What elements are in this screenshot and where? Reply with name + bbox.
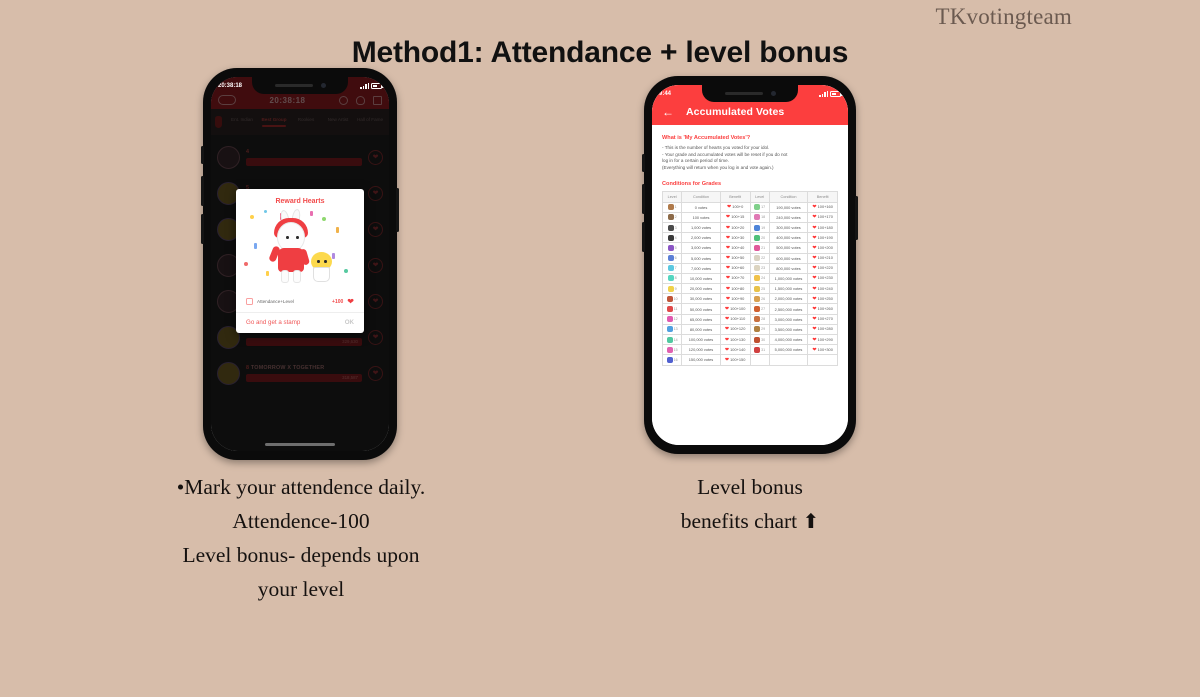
dialog-reward-row: Attendance+Level +100 ❤ bbox=[236, 293, 364, 313]
cell-condition: 100 votes bbox=[682, 212, 721, 222]
grade-badge-icon bbox=[754, 347, 760, 353]
heart-icon: ❤ bbox=[812, 275, 816, 281]
cell-benefit: ❤ 100+50 bbox=[720, 253, 750, 263]
cell-condition: 3,000,000 votes bbox=[769, 314, 808, 324]
heart-icon: ❤ bbox=[812, 326, 816, 332]
cell-condition: 2,000,000 votes bbox=[769, 294, 808, 304]
table-row: 1265,000 votes❤ 100+110283,000,000 votes… bbox=[663, 314, 838, 324]
cell-benefit: ❤ 100+20 bbox=[720, 222, 750, 232]
heart-icon: ❤ bbox=[812, 286, 816, 292]
level-number: 25 bbox=[761, 287, 765, 291]
grade-badge-icon bbox=[668, 245, 674, 251]
level-number: 26 bbox=[761, 297, 765, 301]
level-number: 14 bbox=[674, 338, 678, 342]
reward-label: Attendance+Level bbox=[257, 299, 294, 304]
caption-line-with-arrow: benefits chart ⬆ bbox=[610, 504, 890, 539]
grade-badge-icon bbox=[754, 214, 760, 220]
cell-level: 25 bbox=[750, 284, 769, 294]
right-caption: Level bonus benefits chart ⬆ bbox=[610, 470, 890, 539]
level-number: 7 bbox=[675, 266, 677, 270]
cell-level: 29 bbox=[750, 324, 769, 334]
phone-power-button bbox=[396, 188, 399, 232]
cell-benefit: ❤ 100+130 bbox=[720, 335, 750, 345]
table-row: 2100 votes❤ 100+1518240,000 votes❤ 100+1… bbox=[663, 212, 838, 222]
cell-condition: 65,000 votes bbox=[682, 314, 721, 324]
dialog-illustration bbox=[236, 207, 364, 293]
cell-level: 12 bbox=[663, 314, 682, 324]
grades-table: Level Condition Benefit Level Condition … bbox=[662, 191, 838, 365]
level-number: 10 bbox=[674, 297, 678, 301]
right-phone-screen: ← Accumulated Votes What is 'My Accumula… bbox=[652, 85, 848, 445]
grade-badge-icon bbox=[754, 316, 760, 322]
status-icons bbox=[360, 83, 382, 89]
cell-level: 20 bbox=[750, 233, 769, 243]
grade-badge-icon bbox=[754, 286, 760, 292]
cell-level: 28 bbox=[750, 314, 769, 324]
cell-condition: 3,000 votes bbox=[682, 243, 721, 253]
heart-icon: ❤ bbox=[812, 337, 816, 343]
cell-condition: 4,000,000 votes bbox=[769, 335, 808, 345]
heart-icon: ❤ bbox=[726, 286, 730, 292]
table-row: 14100,000 votes❤ 100+130304,000,000 vote… bbox=[663, 335, 838, 345]
level-number: 28 bbox=[761, 317, 765, 321]
table-row: 15120,000 votes❤ 100+140315,000,000 vote… bbox=[663, 345, 838, 355]
grade-badge-icon bbox=[754, 255, 760, 261]
level-number: 17 bbox=[761, 205, 765, 209]
cell-benefit: ❤ 100+200 bbox=[808, 243, 838, 253]
cell-level: 15 bbox=[663, 345, 682, 355]
heart-icon: ❤ bbox=[726, 245, 730, 251]
cell-condition: 10,000 votes bbox=[682, 273, 721, 283]
go-get-stamp-button[interactable]: Go and get a stamp bbox=[246, 319, 300, 326]
cell-condition: 400,000 votes bbox=[769, 233, 808, 243]
level-number: 22 bbox=[761, 256, 765, 260]
cell-level: 22 bbox=[750, 253, 769, 263]
cell-condition: 2,000 votes bbox=[682, 233, 721, 243]
info-line: - Your grade and accumulated votes will … bbox=[662, 152, 838, 159]
level-number: 9 bbox=[675, 287, 677, 291]
reward-hearts-dialog: Reward Hearts bbox=[236, 189, 364, 333]
col-header-condition: Condition bbox=[682, 192, 721, 202]
back-arrow-icon[interactable]: ← bbox=[662, 106, 674, 118]
grade-badge-icon bbox=[668, 255, 674, 261]
heart-icon: ❤ bbox=[812, 306, 816, 312]
grade-badge-icon bbox=[668, 286, 674, 292]
signal-icon bbox=[819, 91, 828, 97]
phone-mute-button bbox=[642, 154, 645, 172]
grade-badge-icon bbox=[668, 265, 674, 271]
earpiece-speaker bbox=[725, 92, 763, 95]
cell-level: 27 bbox=[750, 304, 769, 314]
cell-level: 31 bbox=[750, 345, 769, 355]
caption-line: Attendence-100 bbox=[108, 504, 494, 538]
col-header-benefit: Benefit bbox=[808, 192, 838, 202]
heart-icon: ❤ bbox=[812, 204, 816, 210]
info-line: log in for a certain period of time. bbox=[662, 158, 838, 165]
status-icons bbox=[819, 91, 841, 97]
level-number: 16 bbox=[674, 358, 678, 362]
ok-button[interactable]: OK bbox=[345, 319, 354, 326]
col-header-condition: Condition bbox=[769, 192, 808, 202]
grade-badge-icon bbox=[667, 296, 673, 302]
cell-benefit: ❤ 100+210 bbox=[808, 253, 838, 263]
section-body: - This is the number of hearts you voted… bbox=[662, 145, 838, 171]
heart-icon: ❤ bbox=[725, 306, 729, 312]
heart-icon: ❤ bbox=[812, 265, 816, 271]
table-header-row: Level Condition Benefit Level Condition … bbox=[663, 192, 838, 202]
cell-condition: 150,000 votes bbox=[682, 355, 721, 365]
cell-benefit: ❤ 100+270 bbox=[808, 314, 838, 324]
heart-icon: ❤ bbox=[812, 214, 816, 220]
cell-level: 18 bbox=[750, 212, 769, 222]
table-row: 65,000 votes❤ 100+5022600,000 votes❤ 100… bbox=[663, 253, 838, 263]
cell-benefit: ❤ 100+280 bbox=[808, 324, 838, 334]
cell-benefit: ❤ 100+70 bbox=[720, 273, 750, 283]
col-header-level: Level bbox=[750, 192, 769, 202]
level-number: 5 bbox=[675, 246, 677, 250]
cell-benefit: ❤ 100+120 bbox=[720, 324, 750, 334]
page-header-title: Accumulated Votes bbox=[686, 106, 784, 118]
level-number: 20 bbox=[761, 236, 765, 240]
left-caption: •Mark your attendence daily. Attendence-… bbox=[108, 470, 494, 606]
info-line: - This is the number of hearts you voted… bbox=[662, 145, 838, 152]
heart-icon: ❤ bbox=[725, 326, 729, 332]
cell-level: 3 bbox=[663, 222, 682, 232]
level-number: 31 bbox=[761, 348, 765, 352]
cell-benefit: ❤ 100+290 bbox=[808, 335, 838, 345]
table-row: 53,000 votes❤ 100+4021500,000 votes❤ 100… bbox=[663, 243, 838, 253]
cell-benefit: ❤ 100+40 bbox=[720, 243, 750, 253]
reward-points: +100 bbox=[332, 299, 343, 305]
grades-table-body: 10 votes❤ 100+017190,000 votes❤ 100+1602… bbox=[663, 202, 838, 365]
cell-benefit: ❤ 100+230 bbox=[808, 273, 838, 283]
cell-benefit: ❤ 100+60 bbox=[720, 263, 750, 273]
section-heading-what-is: What is 'My Accumulated Votes'? bbox=[662, 135, 838, 141]
phone-mute-button bbox=[201, 146, 204, 164]
table-row: 1150,000 votes❤ 100+100272,500,000 votes… bbox=[663, 304, 838, 314]
heart-icon: ❤ bbox=[725, 337, 729, 343]
heart-icon: ❤ bbox=[727, 204, 731, 210]
cell-level: 6 bbox=[663, 253, 682, 263]
cell-benefit: ❤ 100+240 bbox=[808, 284, 838, 294]
cell-level: 26 bbox=[750, 294, 769, 304]
section-heading-conditions: Conditions for Grades bbox=[662, 181, 838, 187]
grade-badge-icon bbox=[667, 326, 673, 332]
left-phone-mockup: 20:38:18 Ent. Indian Best Group Rookies … bbox=[203, 68, 397, 460]
front-camera-icon bbox=[321, 83, 326, 88]
table-row: 31,000 votes❤ 100+2019300,000 votes❤ 100… bbox=[663, 222, 838, 232]
grade-badge-icon bbox=[754, 326, 760, 332]
heart-icon: ❤ bbox=[726, 275, 730, 281]
phone-volume-down-button bbox=[201, 214, 204, 244]
phone-notch bbox=[252, 77, 348, 94]
grade-badge-icon bbox=[754, 235, 760, 241]
accumulated-votes-page: ← Accumulated Votes What is 'My Accumula… bbox=[652, 85, 848, 445]
cell-condition: 1,500,000 votes bbox=[769, 284, 808, 294]
home-indicator bbox=[265, 443, 335, 446]
signal-icon bbox=[360, 83, 369, 89]
level-number: 2 bbox=[675, 215, 677, 219]
page-title: Method1: Attendance + level bonus bbox=[0, 36, 1200, 70]
grade-badge-icon bbox=[754, 245, 760, 251]
caption-line: benefits chart bbox=[681, 509, 797, 533]
table-row: 1030,000 votes❤ 100+90262,000,000 votes❤… bbox=[663, 294, 838, 304]
phone-volume-up-button bbox=[642, 184, 645, 214]
heart-icon: ❤ bbox=[812, 316, 816, 322]
mascot-illustration bbox=[269, 216, 331, 288]
battery-icon bbox=[830, 91, 841, 97]
cell-level: 11 bbox=[663, 304, 682, 314]
caption-line: Level bonus- depends upon bbox=[108, 538, 494, 572]
level-number: 30 bbox=[761, 338, 765, 342]
cell-level: 21 bbox=[750, 243, 769, 253]
bunny-leg bbox=[293, 270, 301, 283]
cell-benefit: ❤ 100+30 bbox=[720, 233, 750, 243]
heart-icon: ❤ bbox=[812, 347, 816, 353]
grade-badge-icon bbox=[754, 265, 760, 271]
cell-condition: 1,000 votes bbox=[682, 222, 721, 232]
cell-condition: 7,000 votes bbox=[682, 263, 721, 273]
up-arrow-icon: ⬆ bbox=[803, 511, 820, 533]
caption-line: your level bbox=[108, 572, 494, 606]
cell-level: 19 bbox=[750, 222, 769, 232]
cell-benefit: ❤ 100+220 bbox=[808, 263, 838, 273]
status-time: 9:44 bbox=[659, 91, 671, 97]
cell-level: 4 bbox=[663, 233, 682, 243]
table-row: 1380,000 votes❤ 100+120293,500,000 votes… bbox=[663, 324, 838, 334]
level-number: 21 bbox=[761, 246, 765, 250]
level-number: 27 bbox=[761, 307, 765, 311]
grade-badge-icon bbox=[754, 337, 760, 343]
table-row: 810,000 votes❤ 100+70241,000,000 votes❤ … bbox=[663, 273, 838, 283]
slide-canvas: TKvotingteam Method1: Attendance + level… bbox=[0, 0, 1200, 697]
level-number: 4 bbox=[675, 236, 677, 240]
level-number: 6 bbox=[675, 256, 677, 260]
cell-benefit: ❤ 100+140 bbox=[720, 345, 750, 355]
cell-benefit: ❤ 100+170 bbox=[808, 212, 838, 222]
cell-level bbox=[750, 355, 769, 365]
right-phone-mockup: ← Accumulated Votes What is 'My Accumula… bbox=[644, 76, 856, 454]
cell-condition: 1,000,000 votes bbox=[769, 273, 808, 283]
phone-notch bbox=[702, 85, 798, 102]
cell-condition: 30,000 votes bbox=[682, 294, 721, 304]
reward-badge-icon bbox=[246, 298, 253, 305]
cell-condition: 50,000 votes bbox=[682, 304, 721, 314]
earpiece-speaker bbox=[275, 84, 313, 87]
heart-icon: ❤ bbox=[725, 316, 729, 322]
dialog-title: Reward Hearts bbox=[236, 189, 364, 207]
cell-benefit bbox=[808, 355, 838, 365]
level-number: 12 bbox=[674, 317, 678, 321]
cell-benefit: ❤ 100+160 bbox=[808, 202, 838, 212]
cell-condition: 800,000 votes bbox=[769, 263, 808, 273]
cell-benefit: ❤ 100+110 bbox=[720, 314, 750, 324]
heart-icon: ❤ bbox=[726, 214, 730, 220]
dialog-actions: Go and get a stamp OK bbox=[236, 313, 364, 333]
caption-line: •Mark your attendence daily. bbox=[108, 470, 494, 504]
heart-icon: ❤ bbox=[725, 357, 729, 363]
cell-benefit: ❤ 100+0 bbox=[720, 202, 750, 212]
cell-condition: 3,500,000 votes bbox=[769, 324, 808, 334]
cell-benefit: ❤ 100+260 bbox=[808, 304, 838, 314]
cell-condition: 80,000 votes bbox=[682, 324, 721, 334]
heart-icon: ❤ bbox=[726, 225, 730, 231]
cell-level: 10 bbox=[663, 294, 682, 304]
cell-benefit: ❤ 100+15 bbox=[720, 212, 750, 222]
grade-badge-icon bbox=[667, 306, 673, 312]
cell-level: 23 bbox=[750, 263, 769, 273]
table-row: 16150,000 votes❤ 100+150 bbox=[663, 355, 838, 365]
cell-condition: 190,000 votes bbox=[769, 202, 808, 212]
cell-level: 16 bbox=[663, 355, 682, 365]
cell-condition: 500,000 votes bbox=[769, 243, 808, 253]
chick-cup bbox=[313, 267, 330, 282]
cell-condition: 120,000 votes bbox=[682, 345, 721, 355]
front-camera-icon bbox=[771, 91, 776, 96]
cell-benefit: ❤ 100+250 bbox=[808, 294, 838, 304]
chick-illustration bbox=[311, 252, 333, 282]
cell-level: 8 bbox=[663, 273, 682, 283]
grade-badge-icon bbox=[754, 306, 760, 312]
cell-condition: 2,500,000 votes bbox=[769, 304, 808, 314]
heart-icon: ❤ bbox=[726, 296, 730, 302]
cell-benefit: ❤ 100+300 bbox=[808, 345, 838, 355]
phone-volume-down-button bbox=[642, 222, 645, 252]
heart-icon: ❤ bbox=[812, 296, 816, 302]
cell-level: 13 bbox=[663, 324, 682, 334]
cell-level: 17 bbox=[750, 202, 769, 212]
level-number: 8 bbox=[675, 276, 677, 280]
cell-condition: 600,000 votes bbox=[769, 253, 808, 263]
level-number: 23 bbox=[761, 266, 765, 270]
grade-badge-icon bbox=[668, 235, 674, 241]
grade-badge-icon bbox=[668, 225, 674, 231]
cell-level: 30 bbox=[750, 335, 769, 345]
heart-icon: ❤ bbox=[347, 297, 354, 306]
level-number: 3 bbox=[675, 226, 677, 230]
col-header-benefit: Benefit bbox=[720, 192, 750, 202]
caption-line: Level bonus bbox=[610, 470, 890, 504]
left-phone-screen: 20:38:18 Ent. Indian Best Group Rookies … bbox=[211, 77, 389, 451]
phone-volume-up-button bbox=[201, 176, 204, 206]
level-number: 15 bbox=[674, 348, 678, 352]
cell-condition: 240,000 votes bbox=[769, 212, 808, 222]
heart-icon: ❤ bbox=[812, 255, 816, 261]
grade-badge-icon bbox=[754, 296, 760, 302]
level-number: 24 bbox=[761, 276, 765, 280]
heart-icon: ❤ bbox=[812, 235, 816, 241]
grade-badge-icon bbox=[667, 337, 673, 343]
cell-benefit: ❤ 100+80 bbox=[720, 284, 750, 294]
bunny-leg bbox=[281, 270, 289, 283]
cell-level: 7 bbox=[663, 263, 682, 273]
table-row: 77,000 votes❤ 100+6023800,000 votes❤ 100… bbox=[663, 263, 838, 273]
level-number: 13 bbox=[674, 327, 678, 331]
level-number: 18 bbox=[761, 215, 765, 219]
heart-icon: ❤ bbox=[726, 235, 730, 241]
cell-condition: 0 votes bbox=[682, 202, 721, 212]
cell-condition: 5,000,000 votes bbox=[769, 345, 808, 355]
table-row: 10 votes❤ 100+017190,000 votes❤ 100+160 bbox=[663, 202, 838, 212]
cell-level: 5 bbox=[663, 243, 682, 253]
cell-level: 9 bbox=[663, 284, 682, 294]
grade-badge-icon bbox=[668, 214, 674, 220]
info-line: (Everything will return when you log in … bbox=[662, 165, 838, 172]
grade-badge-icon bbox=[754, 204, 760, 210]
cell-condition: 20,000 votes bbox=[682, 284, 721, 294]
cell-condition: 5,000 votes bbox=[682, 253, 721, 263]
grade-badge-icon bbox=[754, 225, 760, 231]
cell-benefit: ❤ 100+100 bbox=[720, 304, 750, 314]
table-row: 920,000 votes❤ 100+80251,500,000 votes❤ … bbox=[663, 284, 838, 294]
cell-level: 2 bbox=[663, 212, 682, 222]
bunny-body bbox=[278, 248, 304, 272]
grade-badge-icon bbox=[667, 347, 673, 353]
col-header-level: Level bbox=[663, 192, 682, 202]
grade-badge-icon bbox=[668, 275, 674, 281]
cell-level: 14 bbox=[663, 335, 682, 345]
heart-icon: ❤ bbox=[725, 347, 729, 353]
cell-condition: 300,000 votes bbox=[769, 222, 808, 232]
cell-condition bbox=[769, 355, 808, 365]
battery-icon bbox=[371, 83, 382, 89]
heart-icon: ❤ bbox=[726, 255, 730, 261]
level-number: 11 bbox=[674, 307, 678, 311]
grade-badge-icon bbox=[667, 316, 673, 322]
level-number: 29 bbox=[761, 327, 765, 331]
grade-badge-icon bbox=[668, 204, 674, 210]
cell-benefit: ❤ 100+90 bbox=[720, 294, 750, 304]
watermark: TKvotingteam bbox=[935, 4, 1072, 30]
cell-benefit: ❤ 100+190 bbox=[808, 233, 838, 243]
cell-benefit: ❤ 100+180 bbox=[808, 222, 838, 232]
cell-condition: 100,000 votes bbox=[682, 335, 721, 345]
grade-badge-icon bbox=[754, 275, 760, 281]
phone-power-button bbox=[855, 196, 858, 240]
page-content: What is 'My Accumulated Votes'? - This i… bbox=[652, 125, 848, 366]
cell-level: 1 bbox=[663, 202, 682, 212]
level-number: 1 bbox=[675, 205, 677, 209]
level-number: 19 bbox=[761, 226, 765, 230]
status-time: 20:38:18 bbox=[218, 83, 242, 89]
grade-badge-icon bbox=[667, 357, 673, 363]
heart-icon: ❤ bbox=[726, 265, 730, 271]
cell-benefit: ❤ 100+150 bbox=[720, 355, 750, 365]
voting-app: 20:38:18 Ent. Indian Best Group Rookies … bbox=[211, 77, 389, 451]
heart-icon: ❤ bbox=[812, 245, 816, 251]
heart-icon: ❤ bbox=[812, 225, 816, 231]
table-row: 42,000 votes❤ 100+3020400,000 votes❤ 100… bbox=[663, 233, 838, 243]
cell-level: 24 bbox=[750, 273, 769, 283]
